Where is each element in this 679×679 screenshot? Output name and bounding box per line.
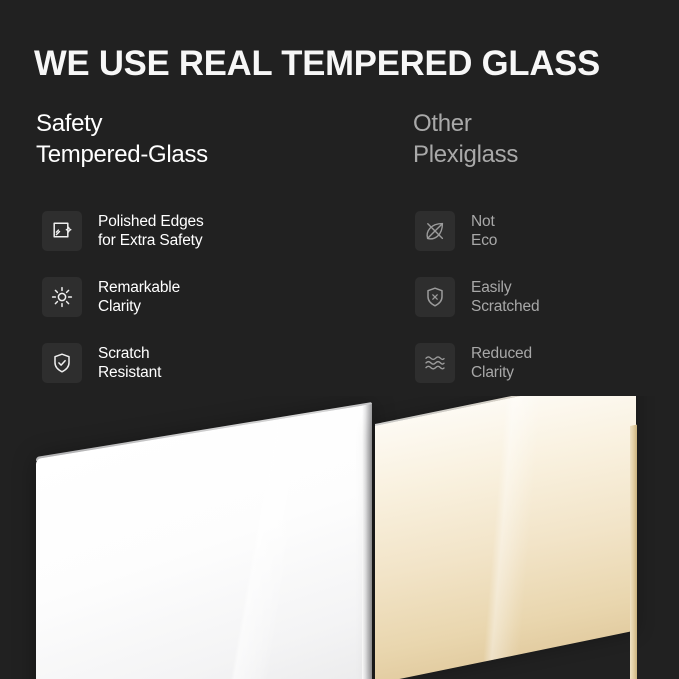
page-title: WE USE REAL TEMPERED GLASS <box>34 43 658 85</box>
list-item: Polished Edges for Extra Safety <box>42 211 372 251</box>
plexiglass-panel <box>375 396 636 679</box>
list-item: Remarkable Clarity <box>42 277 372 317</box>
feature-label: Reduced Clarity <box>471 344 532 382</box>
feature-label: Remarkable Clarity <box>98 278 180 316</box>
leaf-crossed-out-icon <box>415 211 455 251</box>
list-item: Scratch Resistant <box>42 343 372 383</box>
product-photo <box>0 396 679 679</box>
polished-edges-icon <box>42 211 82 251</box>
list-item: Easily Scratched <box>415 277 673 317</box>
right-heading-line1: Other <box>413 108 675 139</box>
left-heading-line1: Safety <box>36 108 376 139</box>
shield-x-icon <box>415 277 455 317</box>
column-heading-left: Safety Tempered-Glass <box>36 108 376 170</box>
feature-list-right: Not Eco Easily Scratched Reduced Clarity <box>415 211 673 383</box>
column-heading-right: Other Plexiglass <box>413 108 675 170</box>
tempered-glass-panel-side-edge <box>362 404 372 679</box>
comparison-infographic: WE USE REAL TEMPERED GLASS Safety Temper… <box>0 0 679 679</box>
sun-brightness-icon <box>42 277 82 317</box>
feature-list-left: Polished Edges for Extra Safety Remarkab… <box>42 211 372 383</box>
list-item: Not Eco <box>415 211 673 251</box>
feature-label: Easily Scratched <box>471 278 539 316</box>
list-item: Reduced Clarity <box>415 343 673 383</box>
shield-check-icon <box>42 343 82 383</box>
feature-label: Not Eco <box>471 212 497 250</box>
tempered-glass-panel <box>36 404 372 679</box>
feature-label: Scratch Resistant <box>98 344 161 382</box>
feature-label: Polished Edges for Extra Safety <box>98 212 204 250</box>
wavy-lines-icon <box>415 343 455 383</box>
right-heading-line2: Plexiglass <box>413 139 675 170</box>
left-heading-line2: Tempered-Glass <box>36 139 376 170</box>
plexiglass-panel-side-edge <box>630 425 637 679</box>
